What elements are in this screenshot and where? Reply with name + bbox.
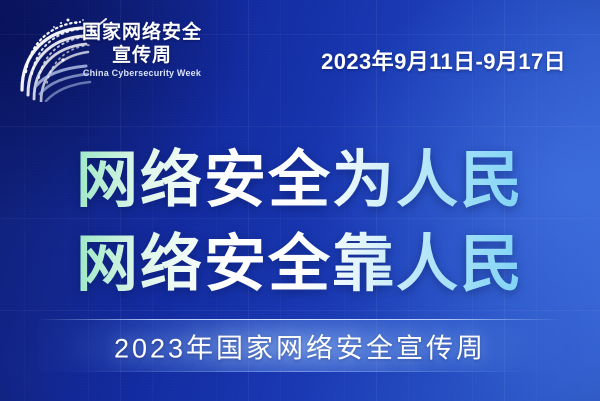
event-date: 2023年9月11日-9月17日 xyxy=(321,44,566,76)
banner-title: 2023年国家网络安全宣传周 xyxy=(38,326,562,365)
logo-title-line2: 宣传周 xyxy=(68,44,216,67)
cybersecurity-week-poster: 国家网络安全 宣传周 China Cybersecurity Week 2023… xyxy=(0,0,600,401)
logo-english-subtitle: China Cybersecurity Week xyxy=(68,68,216,79)
banner-top-highlight xyxy=(38,319,562,320)
logo-title-line1: 国家网络安全 xyxy=(68,22,216,44)
headline-block: 网络安全为人民 网络安全靠人民 xyxy=(0,139,600,307)
headline-line-1: 网络安全为人民 xyxy=(0,139,600,223)
logo: 国家网络安全 宣传周 China Cybersecurity Week xyxy=(16,18,216,100)
bottom-banner: 2023年国家网络安全宣传周 xyxy=(38,319,562,372)
banner-bottom-highlight xyxy=(69,371,530,372)
logo-text-block: 国家网络安全 宣传周 China Cybersecurity Week xyxy=(68,22,216,79)
headline-line-2: 网络安全靠人民 xyxy=(0,223,600,307)
